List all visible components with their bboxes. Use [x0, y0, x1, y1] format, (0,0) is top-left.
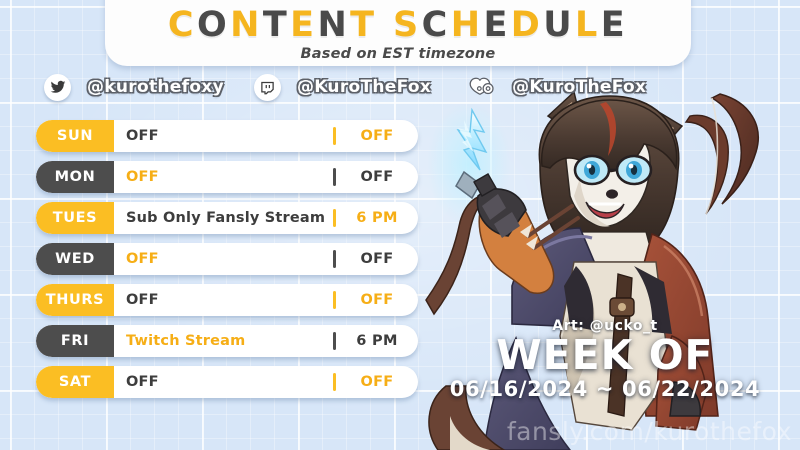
schedule-row: SUNOFFOFF	[36, 120, 418, 152]
schedule-graphic: CONTENT SCHEDULE Based on EST timezone @…	[0, 0, 800, 450]
schedule-time: 6 PM	[336, 325, 418, 357]
day-label-fri: FRI	[36, 325, 114, 357]
twitch-handle: @KuroTheFox	[297, 77, 431, 97]
title-letter: T	[350, 5, 377, 45]
title-letter: H	[451, 5, 484, 45]
title-letter: N	[317, 5, 350, 45]
title-letter: L	[575, 5, 601, 45]
title-letter: S	[393, 5, 422, 45]
schedule-activity: OFF	[114, 243, 333, 275]
schedule-time: OFF	[336, 161, 418, 193]
twitter-icon	[44, 74, 71, 101]
title-banner: CONTENT SCHEDULE Based on EST timezone	[105, 0, 691, 66]
title-letter: C	[422, 5, 451, 45]
schedule-activity: OFF	[114, 120, 333, 152]
social-handles-row: @kurothefoxy @KuroTheFox	[44, 70, 756, 104]
schedule-activity: Sub Only Fansly Stream	[114, 202, 333, 234]
title-letter: N	[230, 5, 263, 45]
schedule-time: OFF	[336, 120, 418, 152]
twitter-handle: @kurothefoxy	[87, 77, 224, 97]
title-letter: O	[197, 5, 230, 45]
schedule-time: 6 PM	[336, 202, 418, 234]
schedule-time: OFF	[336, 366, 418, 398]
schedule-time: OFF	[336, 243, 418, 275]
day-label-sun: SUN	[36, 120, 114, 152]
day-label-thurs: THURS	[36, 284, 114, 316]
schedule-activity: OFF	[114, 366, 333, 398]
schedule-row: WEDOFFOFF	[36, 243, 418, 275]
social-fansly[interactable]: @KuroTheFox	[469, 74, 646, 101]
fansly-handle: @KuroTheFox	[512, 77, 646, 97]
title-letter: T	[263, 5, 290, 45]
day-label-mon: MON	[36, 161, 114, 193]
twitch-icon	[254, 74, 281, 101]
schedule-time: OFF	[336, 284, 418, 316]
schedule-row: SATOFFOFF	[36, 366, 418, 398]
title-letter: E	[290, 5, 317, 45]
fansly-icon	[469, 74, 496, 101]
title-letter: C	[168, 5, 197, 45]
schedule-list: SUNOFFOFFMONOFFOFFTUESSub Only Fansly St…	[36, 120, 418, 407]
schedule-row: THURSOFFOFF	[36, 284, 418, 316]
schedule-activity: OFF	[114, 161, 333, 193]
schedule-row: TUESSub Only Fansly Stream6 PM	[36, 202, 418, 234]
social-twitch[interactable]: @KuroTheFox	[254, 74, 431, 101]
character-illustration	[420, 86, 800, 450]
title-letter	[377, 5, 393, 45]
title-letter: E	[601, 5, 628, 45]
day-label-tues: TUES	[36, 202, 114, 234]
day-label-wed: WED	[36, 243, 114, 275]
title-subtitle: Based on EST timezone	[301, 46, 496, 62]
day-label-sat: SAT	[36, 366, 114, 398]
title-letter: D	[511, 5, 543, 45]
title-letter: U	[543, 5, 575, 45]
schedule-row: FRITwitch Stream6 PM	[36, 325, 418, 357]
social-twitter[interactable]: @kurothefoxy	[44, 74, 224, 101]
schedule-activity: OFF	[114, 284, 333, 316]
schedule-row: MONOFFOFF	[36, 161, 418, 193]
page-title: CONTENT SCHEDULE	[168, 8, 628, 43]
title-letter: E	[483, 5, 510, 45]
schedule-activity: Twitch Stream	[114, 325, 333, 357]
